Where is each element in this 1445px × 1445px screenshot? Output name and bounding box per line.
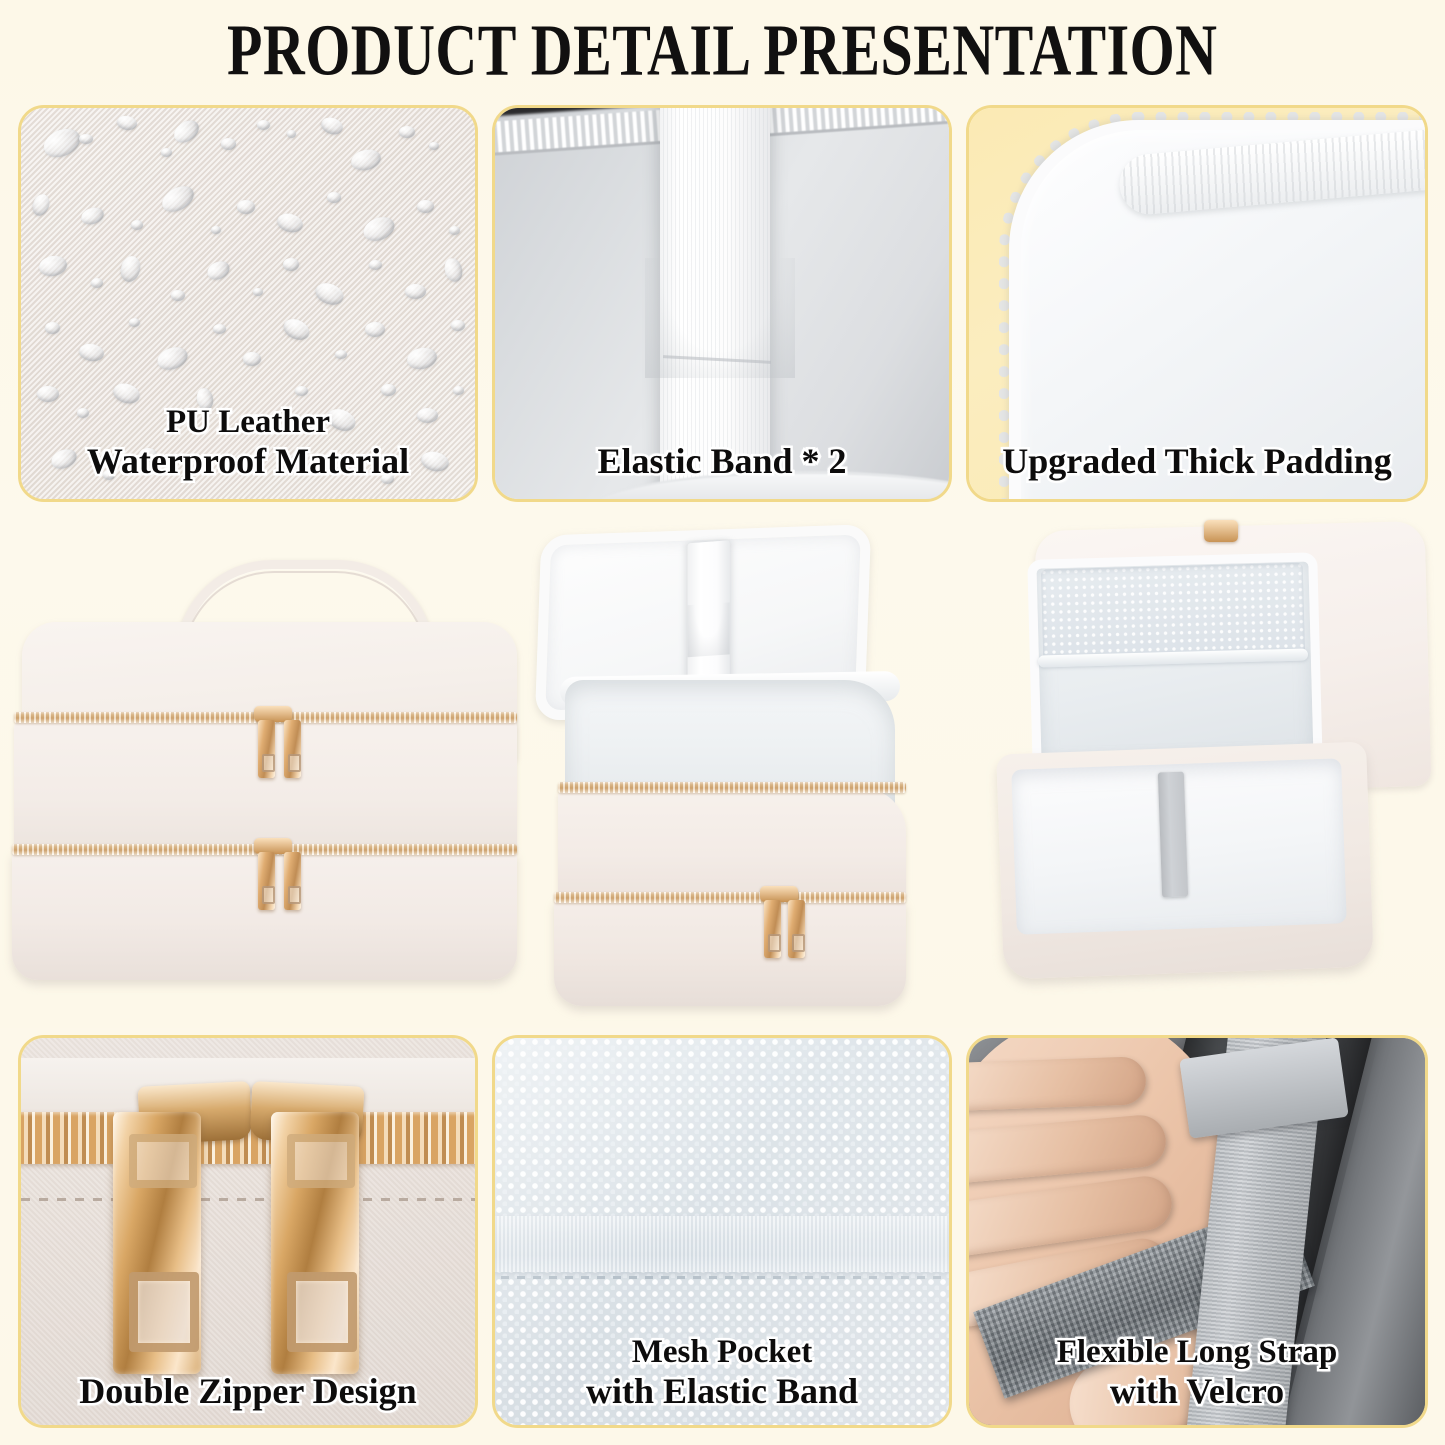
feature-panel-thick-padding[interactable]: Upgraded Thick Padding bbox=[966, 105, 1428, 502]
open-bag-zipper-pull-right bbox=[788, 900, 805, 958]
open-bag-lower-body bbox=[554, 898, 906, 1006]
feature-panel-mesh-pocket[interactable]: Mesh Pocket with Elastic Band bbox=[492, 1035, 952, 1428]
double-zipper-photo bbox=[21, 1038, 475, 1425]
page-title: PRODUCT DETAIL PRESENTATION bbox=[227, 13, 1217, 86]
panel-image-thick-padding: Upgraded Thick Padding bbox=[969, 108, 1425, 499]
mesh-bag-zipper-clasp bbox=[1204, 520, 1238, 542]
zipper-pull-lower-right bbox=[284, 852, 301, 910]
panel-image-pu-leather: PU Leather Waterproof Material bbox=[21, 108, 475, 499]
zipper-pull-lower-left bbox=[258, 852, 275, 910]
panel-image-double-zipper: Double Zipper Design bbox=[21, 1038, 475, 1425]
open-bag-zipper-upper bbox=[558, 782, 906, 793]
caption-pu-leather: PU Leather Waterproof Material bbox=[21, 404, 475, 481]
product-photo-bag-open-mesh bbox=[1008, 526, 1438, 996]
feature-panel-double-zipper[interactable]: Double Zipper Design bbox=[18, 1035, 478, 1428]
caption-thick-padding: Upgraded Thick Padding bbox=[969, 441, 1425, 481]
product-photo-band bbox=[0, 508, 1445, 1028]
caption-elastic-band: Elastic Band * 2 bbox=[495, 441, 949, 481]
page-title-bar: PRODUCT DETAIL PRESENTATION bbox=[0, 0, 1445, 100]
open-bag-zipper-pull-left bbox=[764, 900, 781, 958]
caption-mesh-pocket: Mesh Pocket with Elastic Band bbox=[495, 1334, 949, 1411]
feature-panel-velcro-strap[interactable]: Flexible Long Strap with Velcro bbox=[966, 1035, 1428, 1428]
mesh-elastic-band bbox=[495, 1216, 949, 1272]
zipper-pull-left bbox=[113, 1112, 201, 1374]
product-photo-bag-closed bbox=[8, 560, 508, 960]
zipper-pull-right bbox=[271, 1112, 359, 1374]
zipper-pull-upper-left bbox=[258, 720, 275, 778]
feature-panel-pu-leather[interactable]: PU Leather Waterproof Material bbox=[18, 105, 478, 502]
zipper-pull-upper-right bbox=[284, 720, 301, 778]
product-detail-page: PRODUCT DETAIL PRESENTATION bbox=[0, 0, 1445, 1445]
panel-image-elastic-band: Elastic Band * 2 bbox=[495, 108, 949, 499]
feature-panel-elastic-band[interactable]: Elastic Band * 2 bbox=[492, 105, 952, 502]
caption-velcro-strap: Flexible Long Strap with Velcro bbox=[969, 1334, 1425, 1411]
mesh-stitch-line bbox=[495, 1276, 949, 1279]
interior-divider-strap bbox=[1158, 772, 1188, 898]
product-photo-bag-open-elastic bbox=[520, 530, 970, 1000]
open-bag-upper-body bbox=[558, 788, 906, 900]
mesh-pocket bbox=[1041, 563, 1305, 662]
caption-double-zipper: Double Zipper Design bbox=[21, 1371, 475, 1411]
panel-image-mesh-pocket: Mesh Pocket with Elastic Band bbox=[495, 1038, 949, 1425]
panel-image-velcro-strap: Flexible Long Strap with Velcro bbox=[969, 1038, 1425, 1425]
open-bag-zipper-lower bbox=[554, 892, 906, 903]
